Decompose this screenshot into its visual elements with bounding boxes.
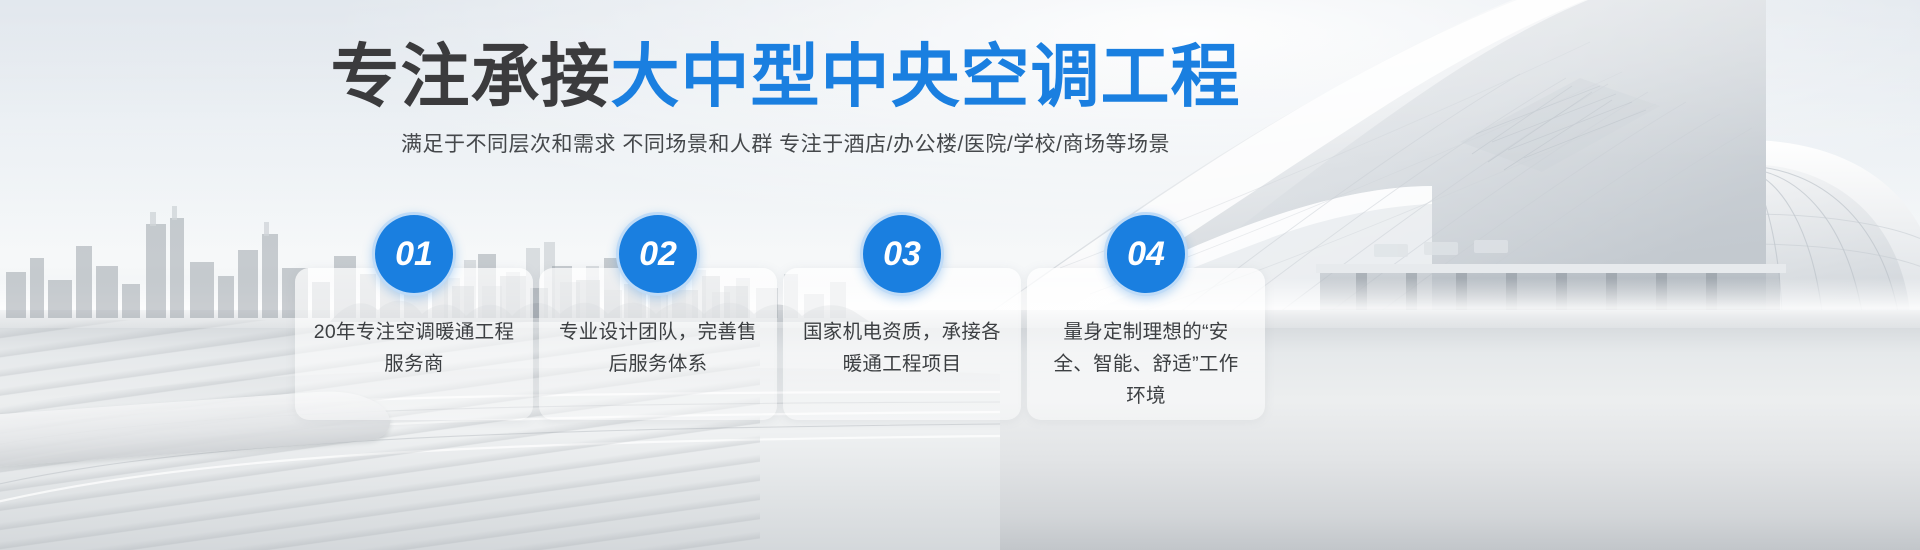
- feature-card[interactable]: 03 国家机电资质，承接各暖通工程项目: [783, 268, 1021, 420]
- step-number-label: 03: [883, 237, 921, 271]
- step-number-label: 04: [1127, 237, 1165, 271]
- headline-dark-text: 专注承接: [331, 38, 611, 115]
- feature-card-text: 专业设计团队，完善售后服务体系: [557, 316, 759, 380]
- feature-card[interactable]: 01 20年专注空调暖通工程服务商: [295, 268, 533, 420]
- step-number-label: 02: [639, 237, 677, 271]
- hero-banner: 专注承接大中型中央空调工程 满足于不同层次和需求 不同场景和人群 专注于酒店/办…: [0, 0, 1920, 550]
- step-number-badge: 04: [1104, 212, 1188, 296]
- step-number-badge: 03: [860, 212, 944, 296]
- banner-subheadline: 满足于不同层次和需求 不同场景和人群 专注于酒店/办公楼/医院/学校/商场等场景: [0, 130, 1571, 159]
- feature-card-text: 20年专注空调暖通工程服务商: [313, 316, 515, 380]
- feature-card[interactable]: 02 专业设计团队，完善售后服务体系: [539, 268, 777, 420]
- feature-card-text: 量身定制理想的“安全、智能、舒适”工作环境: [1045, 316, 1247, 413]
- step-number-label: 01: [395, 237, 433, 271]
- banner-headline: 专注承接大中型中央空调工程: [0, 42, 1571, 111]
- feature-card-text: 国家机电资质，承接各暖通工程项目: [801, 316, 1003, 380]
- feature-card-list: 01 20年专注空调暖通工程服务商 02 专业设计团队，完善售后服务体系 03 …: [295, 268, 1265, 420]
- step-number-badge: 01: [372, 212, 456, 296]
- headline-blue-text: 大中型中央空调工程: [611, 38, 1241, 115]
- step-number-badge: 02: [616, 212, 700, 296]
- feature-card[interactable]: 04 量身定制理想的“安全、智能、舒适”工作环境: [1027, 268, 1265, 420]
